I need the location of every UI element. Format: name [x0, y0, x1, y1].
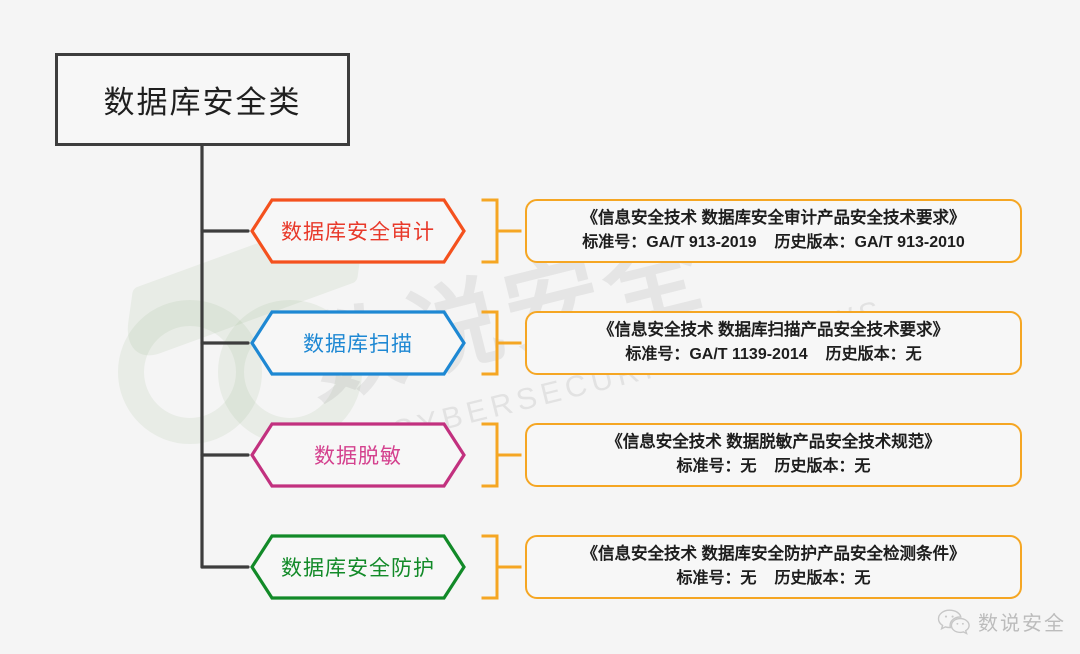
standard-title: 《信息安全技术 数据库扫描产品安全技术要求》	[598, 319, 949, 343]
history-value: GA/T 913-2010	[855, 234, 965, 251]
history-label: 历史版本：	[775, 458, 855, 475]
standard-no-value: GA/T 1139-2014	[689, 346, 807, 363]
standard-box-db-protection[interactable]: 《信息安全技术 数据库安全防护产品安全检测条件》 标准号：无历史版本：无	[525, 535, 1022, 599]
standard-no-value: 无	[740, 458, 756, 475]
wechat-icon	[937, 608, 971, 636]
standard-box-db-scan[interactable]: 《信息安全技术 数据库扫描产品安全技术要求》 标准号：GA/T 1139-201…	[525, 311, 1022, 375]
root-node[interactable]: 数据库安全类	[55, 53, 350, 146]
category-node-label: 数据库安全防护	[250, 534, 466, 600]
brand-footer: 数说安全	[937, 607, 1066, 636]
watermark-ring-left	[118, 300, 262, 444]
history-label: 历史版本：	[826, 346, 906, 363]
history-label: 历史版本：	[775, 234, 855, 251]
history-label: 历史版本：	[775, 570, 855, 587]
brand-label: 数说安全	[978, 607, 1066, 636]
category-node-db-scan[interactable]: 数据库扫描	[250, 310, 466, 376]
standard-no-label: 标准号：	[676, 458, 740, 475]
category-node-label: 数据库扫描	[250, 310, 466, 376]
standard-no-value: GA/T 913-2019	[646, 234, 756, 251]
standard-no-label: 标准号：	[625, 346, 689, 363]
standard-title: 《信息安全技术 数据脱敏产品安全技术规范》	[606, 431, 941, 455]
category-node-db-security-audit[interactable]: 数据库安全审计	[250, 198, 466, 264]
standard-meta: 标准号：无历史版本：无	[676, 455, 870, 478]
history-value: 无	[855, 458, 871, 475]
category-node-data-masking[interactable]: 数据脱敏	[250, 422, 466, 488]
category-node-label: 数据脱敏	[250, 422, 466, 488]
standard-meta: 标准号：无历史版本：无	[676, 567, 870, 590]
root-node-label: 数据库安全类	[104, 77, 302, 122]
category-node-db-protection[interactable]: 数据库安全防护	[250, 534, 466, 600]
standard-box-db-security-audit[interactable]: 《信息安全技术 数据库安全审计产品安全技术要求》 标准号：GA/T 913-20…	[525, 199, 1022, 263]
standard-title: 《信息安全技术 数据库安全审计产品安全技术要求》	[581, 207, 965, 231]
diagram-canvas: 数说安全 CYBERSECURITY REVIEWS 数据库安全类 数据库安全	[0, 0, 1080, 654]
history-value: 无	[906, 346, 922, 363]
history-value: 无	[855, 570, 871, 587]
standard-title: 《信息安全技术 数据库安全防护产品安全检测条件》	[581, 543, 965, 567]
standard-no-label: 标准号：	[582, 234, 646, 251]
standard-meta: 标准号：GA/T 913-2019历史版本：GA/T 913-2010	[582, 231, 965, 254]
standard-box-data-masking[interactable]: 《信息安全技术 数据脱敏产品安全技术规范》 标准号：无历史版本：无	[525, 423, 1022, 487]
standard-meta: 标准号：GA/T 1139-2014历史版本：无	[625, 343, 921, 366]
standard-no-label: 标准号：	[676, 570, 740, 587]
category-node-label: 数据库安全审计	[250, 198, 466, 264]
standard-no-value: 无	[740, 570, 756, 587]
